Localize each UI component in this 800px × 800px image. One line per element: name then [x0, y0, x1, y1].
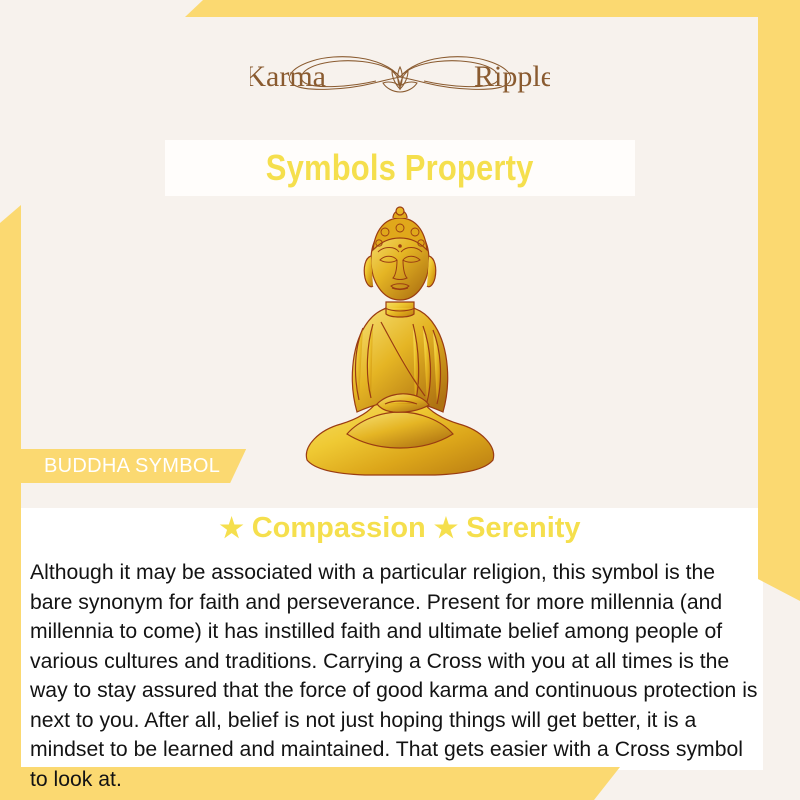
ribbon-label: BUDDHA SYMBOL [44, 456, 220, 476]
karma-ripple-logo-mark: Karma Ripple [250, 45, 550, 109]
decor-right-bar [758, 0, 800, 601]
attribute-compassion: Compassion [252, 512, 426, 544]
brand-logo: Karma Ripple [0, 42, 800, 112]
golden-buddha-statue-icon [285, 198, 515, 488]
attribute-serenity: Serenity [466, 512, 580, 544]
page-root: Karma Ripple Symbols Property [0, 0, 800, 800]
buddha-symbol-ribbon: BUDDHA SYMBOL [0, 449, 246, 483]
brand-word-left: Karma [250, 60, 326, 93]
description-paragraph: Although it may be associated with a par… [30, 558, 761, 794]
star-icon-right: ★ [434, 513, 458, 543]
star-icon-left: ★ [219, 513, 243, 543]
brand-word-right: Ripple [474, 60, 550, 93]
title-band: Symbols Property [165, 140, 635, 196]
decor-top-right-bar [185, 0, 800, 17]
decor-left-bar [0, 205, 21, 770]
attributes-subheading: ★ Compassion ★ Serenity [0, 514, 800, 543]
page-title: Symbols Property [266, 150, 534, 186]
